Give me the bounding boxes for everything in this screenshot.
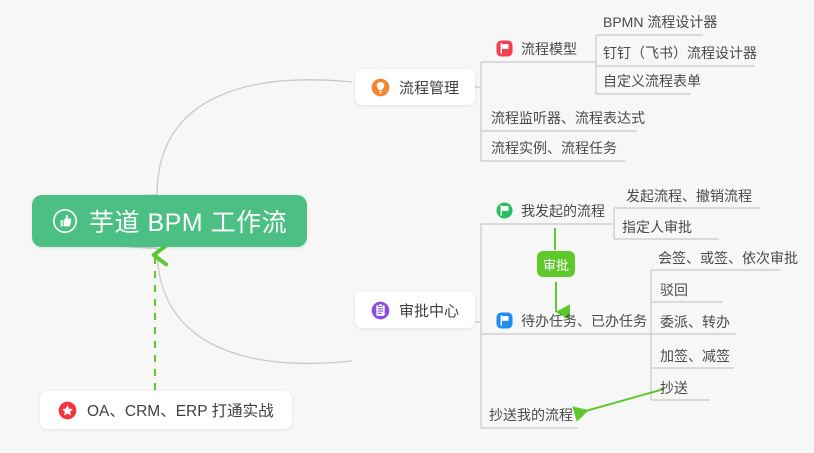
flag-red-icon <box>496 40 513 57</box>
leaf-delegate-transfer[interactable]: 委派、转办 <box>658 311 732 335</box>
leaf-reject[interactable]: 驳回 <box>658 279 690 303</box>
node-cc-to-me[interactable]: 抄送我的流程 <box>487 404 575 428</box>
leaf-add-remove-sign[interactable]: 加签、减签 <box>658 345 732 369</box>
annotation-label: 审批 <box>543 255 569 274</box>
leaf-bpmn-designer[interactable]: BPMN 流程设计器 <box>601 11 719 35</box>
leaf-custom-process-form[interactable]: 自定义流程表单 <box>601 70 703 94</box>
root-label: 芋道 BPM 工作流 <box>89 203 287 239</box>
lightbulb-icon <box>371 78 390 97</box>
leaf-start-cancel-process[interactable]: 发起流程、撤销流程 <box>624 185 754 209</box>
node-instance-task[interactable]: 流程实例、流程任务 <box>489 137 619 161</box>
leaf-label: 驳回 <box>660 280 688 300</box>
node-label: 待办任务、已办任务 <box>521 311 647 331</box>
leaf-label: 钉钉（飞书）流程设计器 <box>603 43 757 63</box>
leaf-label: 自定义流程表单 <box>603 71 701 91</box>
node-todo-done-tasks[interactable]: 待办任务、已办任务 <box>494 310 649 334</box>
branch-label: 流程管理 <box>399 77 459 98</box>
branch-node-approval-center[interactable]: 审批中心 <box>355 292 475 328</box>
leaf-label: 会签、或签、依次审批 <box>658 248 798 268</box>
node-process-model[interactable]: 流程模型 <box>494 38 579 62</box>
leaf-label: BPMN 流程设计器 <box>603 12 717 32</box>
node-label: 流程监听器、流程表达式 <box>491 108 645 128</box>
branch-node-process-management[interactable]: 流程管理 <box>355 69 475 105</box>
node-label: 流程模型 <box>521 39 577 59</box>
flag-green-icon <box>496 202 513 219</box>
leaf-cc[interactable]: 抄送 <box>658 377 690 401</box>
leaf-countersign[interactable]: 会签、或签、依次审批 <box>656 247 800 271</box>
leaf-label: 指定人审批 <box>622 217 692 237</box>
annotation-approval-badge: 审批 <box>537 251 575 277</box>
note-label: OA、CRM、ERP 打通实战 <box>87 399 274 421</box>
star-icon <box>58 401 77 420</box>
clipboard-icon <box>371 301 390 320</box>
root-node[interactable]: 芋道 BPM 工作流 <box>32 195 307 247</box>
node-label: 我发起的流程 <box>521 201 605 221</box>
thumbs-up-icon <box>52 208 78 234</box>
node-my-initiated[interactable]: 我发起的流程 <box>494 200 607 224</box>
node-label: 流程实例、流程任务 <box>491 138 617 158</box>
node-label: 抄送我的流程 <box>489 405 573 425</box>
note-node[interactable]: OA、CRM、ERP 打通实战 <box>40 391 292 429</box>
leaf-label: 加签、减签 <box>660 346 730 366</box>
flag-blue-icon <box>496 312 513 329</box>
leaf-label: 抄送 <box>660 378 688 398</box>
leaf-dingtalk-feishu-designer[interactable]: 钉钉（飞书）流程设计器 <box>601 42 759 66</box>
node-listener-expression[interactable]: 流程监听器、流程表达式 <box>489 107 647 131</box>
leaf-label: 发起流程、撤销流程 <box>626 186 752 206</box>
leaf-assignee-approval[interactable]: 指定人审批 <box>620 216 694 240</box>
leaf-label: 委派、转办 <box>660 312 730 332</box>
branch-label: 审批中心 <box>399 300 459 321</box>
mindmap-canvas: 芋道 BPM 工作流 OA、CRM、ERP 打通实战 流程管理 <box>0 0 814 453</box>
